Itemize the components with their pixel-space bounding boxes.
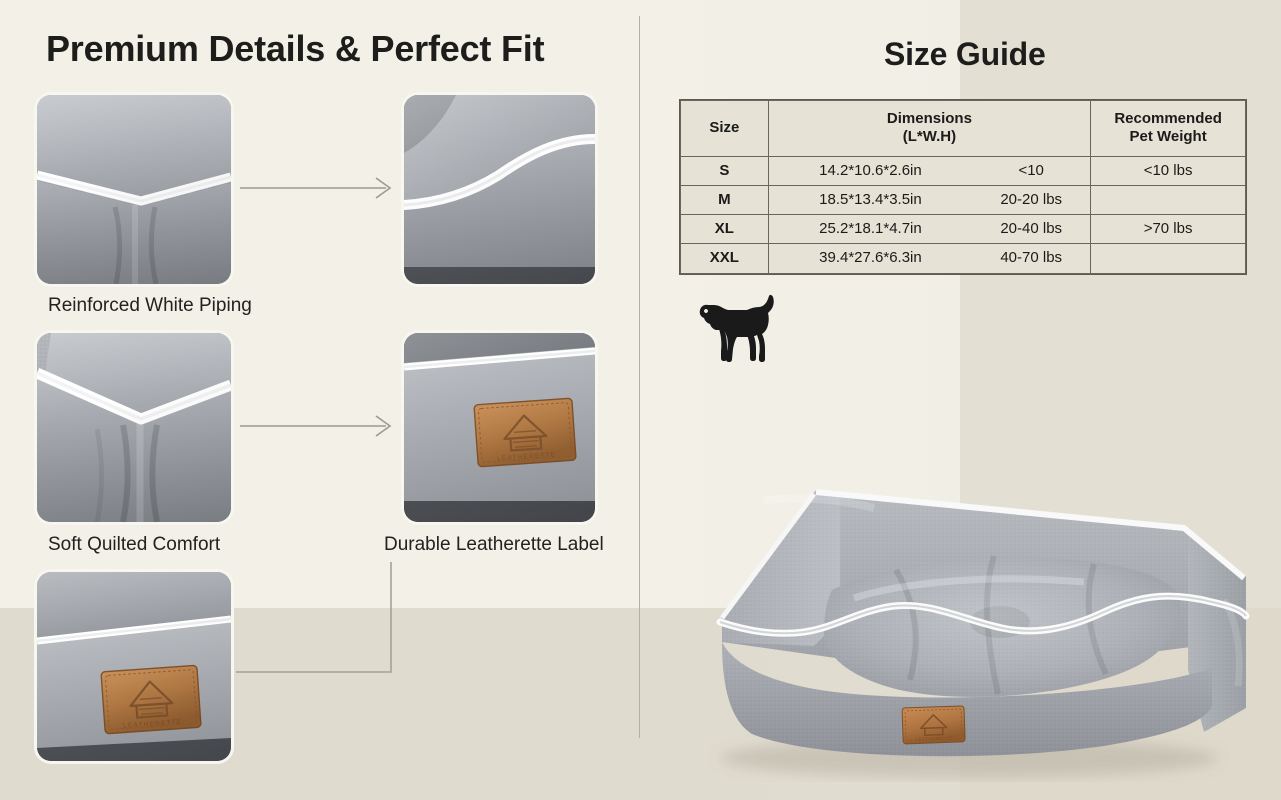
- cell-size: XXL: [681, 244, 769, 273]
- table-row: XL 25.2*18.1*4.7in 20-40 lbs >70 lbs: [681, 215, 1246, 244]
- cell-dimensions: 39.4*27.6*6.3in: [768, 244, 972, 273]
- header-dimensions-line1: Dimensions: [775, 110, 1085, 128]
- arrow-right-icon-top: [240, 176, 395, 200]
- table-row: S 14.2*10.6*2.6in <10 <10 lbs: [681, 156, 1246, 185]
- cell-dimensions: 14.2*10.6*2.6in: [768, 156, 972, 185]
- caption-reinforced-white-piping: Reinforced White Piping: [48, 295, 252, 317]
- detail-card-quilted-comfort: [37, 333, 231, 522]
- cell-weight: <10: [972, 156, 1091, 185]
- header-recommended-pet-weight: Recommended Pet Weight: [1091, 101, 1246, 157]
- detail-card-white-piping: [37, 95, 231, 284]
- right-panel-title: Size Guide: [884, 36, 1046, 73]
- size-guide-table-body: S 14.2*10.6*2.6in <10 <10 lbs M 18.5*13.…: [681, 156, 1246, 273]
- cell-recommended: >70 lbs: [1091, 215, 1246, 244]
- cell-weight: 20-20 lbs: [972, 185, 1091, 214]
- dog-silhouette-icon: [697, 291, 779, 363]
- header-dimensions-line2: (L*W.H): [775, 128, 1085, 146]
- card-sheen: [404, 333, 595, 522]
- size-guide-table: Size Dimensions (L*W.H) Recommended Pet …: [680, 100, 1246, 274]
- cell-recommended: [1091, 185, 1246, 214]
- header-recommended-line1: Recommended: [1097, 110, 1239, 128]
- card-sheen: [37, 95, 231, 284]
- card-sheen: [37, 572, 231, 761]
- left-panel-title: Premium Details & Perfect Fit: [46, 28, 544, 70]
- card-sheen: [404, 95, 595, 284]
- product-photo-dog-bed: LEATHERETTE: [664, 470, 1274, 782]
- cell-size: XL: [681, 215, 769, 244]
- cell-size: M: [681, 185, 769, 214]
- vertical-divider: [639, 16, 640, 738]
- cell-weight: 40-70 lbs: [972, 244, 1091, 273]
- table-row: M 18.5*13.4*3.5in 20-20 lbs: [681, 185, 1246, 214]
- header-dimensions: Dimensions (L*W.H): [768, 101, 1091, 157]
- cell-dimensions: 18.5*13.4*3.5in: [768, 185, 972, 214]
- detail-card-piping-edge: [404, 95, 595, 284]
- size-guide-table-head: Size Dimensions (L*W.H) Recommended Pet …: [681, 101, 1246, 157]
- caption-soft-quilted-comfort: Soft Quilted Comfort: [48, 534, 220, 556]
- table-row: XXL 39.4*27.6*6.3in 40-70 lbs: [681, 244, 1246, 273]
- infographic-page: Premium Details & Perfect Fit: [0, 0, 1281, 800]
- product-leather-label: LEATHERETTE: [902, 706, 965, 744]
- cell-recommended: [1091, 244, 1246, 273]
- cell-recommended: <10 lbs: [1091, 156, 1246, 185]
- elbow-connector-line: [236, 562, 406, 684]
- header-size: Size: [681, 101, 769, 157]
- card-sheen: [37, 333, 231, 522]
- detail-card-label-on-bed: LEATHERETTE: [37, 572, 231, 761]
- cell-weight: 20-40 lbs: [972, 215, 1091, 244]
- caption-durable-leatherette-label: Durable Leatherette Label: [384, 534, 604, 556]
- arrow-right-icon-middle: [240, 414, 395, 438]
- cell-dimensions: 25.2*18.1*4.7in: [768, 215, 972, 244]
- detail-card-leatherette-label: LEATHERETTE: [404, 333, 595, 522]
- header-recommended-line2: Pet Weight: [1097, 128, 1239, 146]
- cell-size: S: [681, 156, 769, 185]
- table-header-row: Size Dimensions (L*W.H) Recommended Pet …: [681, 101, 1246, 157]
